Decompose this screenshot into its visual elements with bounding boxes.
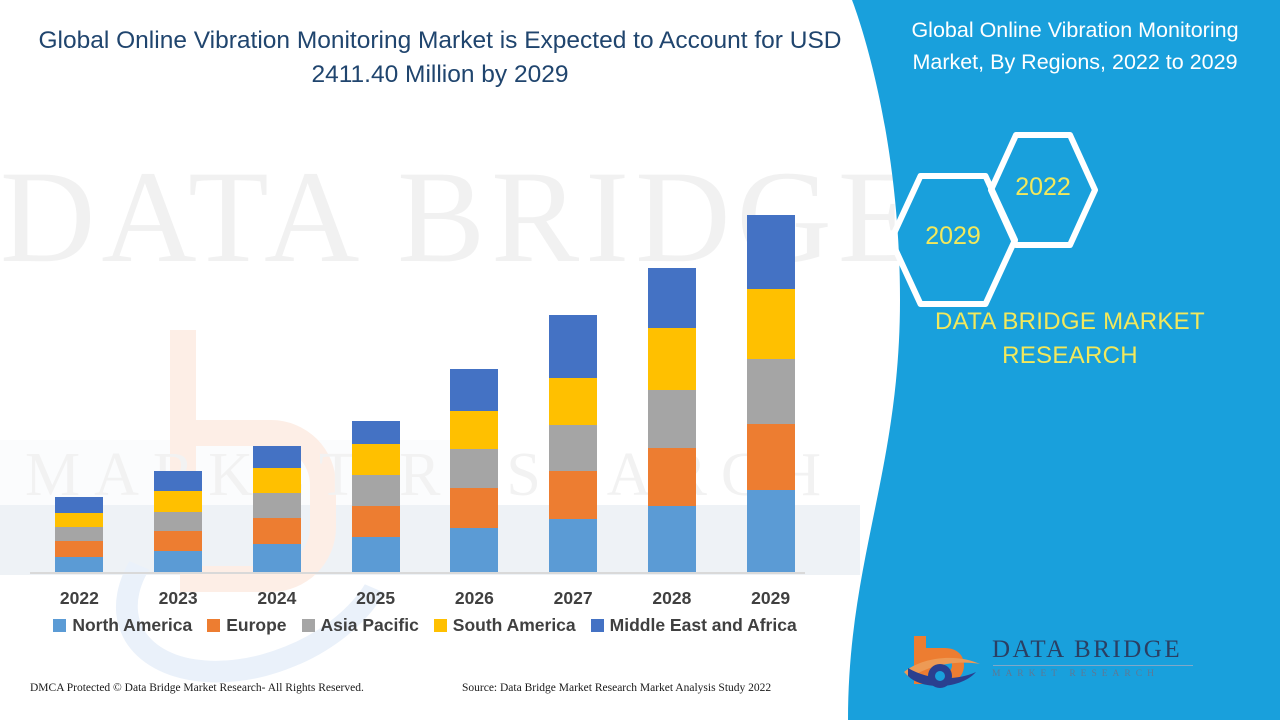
bar-segment <box>648 448 696 506</box>
legend-swatch-icon <box>302 619 315 632</box>
bar-segment <box>55 541 103 556</box>
infographic-root: DATA BRIDGE MARKET RESEARCH Global Onlin… <box>0 0 1280 720</box>
legend-label: Europe <box>226 615 286 636</box>
bar-segment <box>253 544 301 572</box>
bar-segment <box>55 497 103 512</box>
legend-item[interactable]: North America <box>53 615 192 636</box>
dbmr-logo-text: DATA BRIDGE MARKET RESEARCH <box>992 636 1232 680</box>
bar-segment <box>154 471 202 491</box>
bar-segment <box>154 491 202 511</box>
bar-segment <box>55 513 103 527</box>
bar-slot <box>326 150 425 572</box>
bar-segment <box>253 493 301 518</box>
bar-segment <box>648 268 696 328</box>
bar-slot <box>721 150 820 572</box>
legend-label: South America <box>453 615 576 636</box>
stacked-bar-2023[interactable] <box>154 471 202 572</box>
bar-segment <box>352 421 400 444</box>
bar-slot <box>30 150 129 572</box>
x-axis-tick-2024: 2024 <box>228 588 327 609</box>
bar-segment <box>253 468 301 493</box>
source-note: Source: Data Bridge Market Research Mark… <box>462 682 771 694</box>
dbmr-logo: DATA BRIDGE MARKET RESEARCH <box>900 632 1240 694</box>
bar-segment <box>253 518 301 544</box>
x-axis-line <box>30 572 805 574</box>
chart-legend: North AmericaEuropeAsia PacificSouth Ame… <box>30 615 820 636</box>
legend-swatch-icon <box>434 619 447 632</box>
bar-segment <box>549 378 597 425</box>
brand-name-line2: RESEARCH <box>870 339 1270 373</box>
stacked-bar-2026[interactable] <box>450 369 498 572</box>
bar-segment <box>352 475 400 506</box>
x-axis-tick-2023: 2023 <box>129 588 228 609</box>
stacked-bar-2024[interactable] <box>253 446 301 572</box>
hexagon-group: 2029 2022 <box>860 130 1280 310</box>
x-axis-tick-2026: 2026 <box>425 588 524 609</box>
x-axis-tick-2029: 2029 <box>721 588 820 609</box>
bar-segment <box>549 315 597 378</box>
panel-title: Global Online Vibration Monitoring Marke… <box>875 14 1275 78</box>
brand-name-line1: DATA BRIDGE MARKET <box>870 305 1270 339</box>
dbmr-logo-title: DATA BRIDGE <box>992 636 1232 664</box>
legend-item[interactable]: Asia Pacific <box>302 615 419 636</box>
bar-slot <box>228 150 327 572</box>
bar-segment <box>352 537 400 572</box>
bar-segment <box>253 446 301 468</box>
chart-region: 20222023202420252026202720282029 North A… <box>0 0 860 720</box>
bar-segment <box>352 444 400 475</box>
bar-segment <box>154 551 202 572</box>
bar-segment <box>450 528 498 572</box>
chart-bars <box>30 150 820 572</box>
legend-item[interactable]: Europe <box>207 615 286 636</box>
footer: DMCA Protected © Data Bridge Market Rese… <box>0 682 860 720</box>
legend-label: Asia Pacific <box>321 615 419 636</box>
bar-segment <box>549 425 597 471</box>
bar-segment <box>549 519 597 572</box>
bar-segment <box>747 490 795 572</box>
bar-segment <box>450 411 498 449</box>
bar-segment <box>55 557 103 572</box>
x-axis-tick-2025: 2025 <box>326 588 425 609</box>
brand-panel-content: Global Online Vibration Monitoring Marke… <box>860 0 1280 720</box>
x-axis-tick-2027: 2027 <box>524 588 623 609</box>
bar-segment <box>747 289 795 359</box>
bar-segment <box>549 471 597 519</box>
hexagon-2022-label: 2022 <box>988 173 1098 202</box>
stacked-bar-2028[interactable] <box>648 268 696 572</box>
stacked-bar-2025[interactable] <box>352 421 400 572</box>
bar-segment <box>450 449 498 487</box>
bar-slot <box>129 150 228 572</box>
brand-name: DATA BRIDGE MARKET RESEARCH <box>870 305 1270 373</box>
hexagon-2022: 2022 <box>988 130 1098 250</box>
stacked-bar-2027[interactable] <box>549 315 597 572</box>
bar-segment <box>648 390 696 449</box>
dbmr-logo-rule <box>993 665 1193 666</box>
dbmr-logo-icon <box>900 632 990 694</box>
bar-segment <box>747 359 795 424</box>
bar-segment <box>450 369 498 411</box>
bar-segment <box>154 512 202 531</box>
bar-slot <box>623 150 722 572</box>
x-axis-tick-2028: 2028 <box>623 588 722 609</box>
legend-label: Middle East and Africa <box>610 615 797 636</box>
legend-item[interactable]: South America <box>434 615 576 636</box>
bar-segment <box>648 506 696 572</box>
stacked-bar-2022[interactable] <box>55 497 103 572</box>
legend-label: North America <box>72 615 192 636</box>
bar-segment <box>352 506 400 538</box>
x-axis-tick-2022: 2022 <box>30 588 129 609</box>
bar-slot <box>425 150 524 572</box>
stacked-bar-2029[interactable] <box>747 215 795 572</box>
legend-swatch-icon <box>591 619 604 632</box>
bar-segment <box>648 328 696 389</box>
bar-segment <box>747 424 795 490</box>
bar-segment <box>154 531 202 551</box>
bar-slot <box>524 150 623 572</box>
dmca-notice: DMCA Protected © Data Bridge Market Rese… <box>30 682 364 694</box>
bar-segment <box>55 527 103 541</box>
legend-item[interactable]: Middle East and Africa <box>591 615 797 636</box>
legend-swatch-icon <box>53 619 66 632</box>
bar-segment <box>450 488 498 528</box>
dbmr-logo-subtitle: MARKET RESEARCH <box>992 668 1232 680</box>
legend-swatch-icon <box>207 619 220 632</box>
x-axis-labels: 20222023202420252026202720282029 <box>30 588 820 609</box>
bar-segment <box>747 215 795 289</box>
